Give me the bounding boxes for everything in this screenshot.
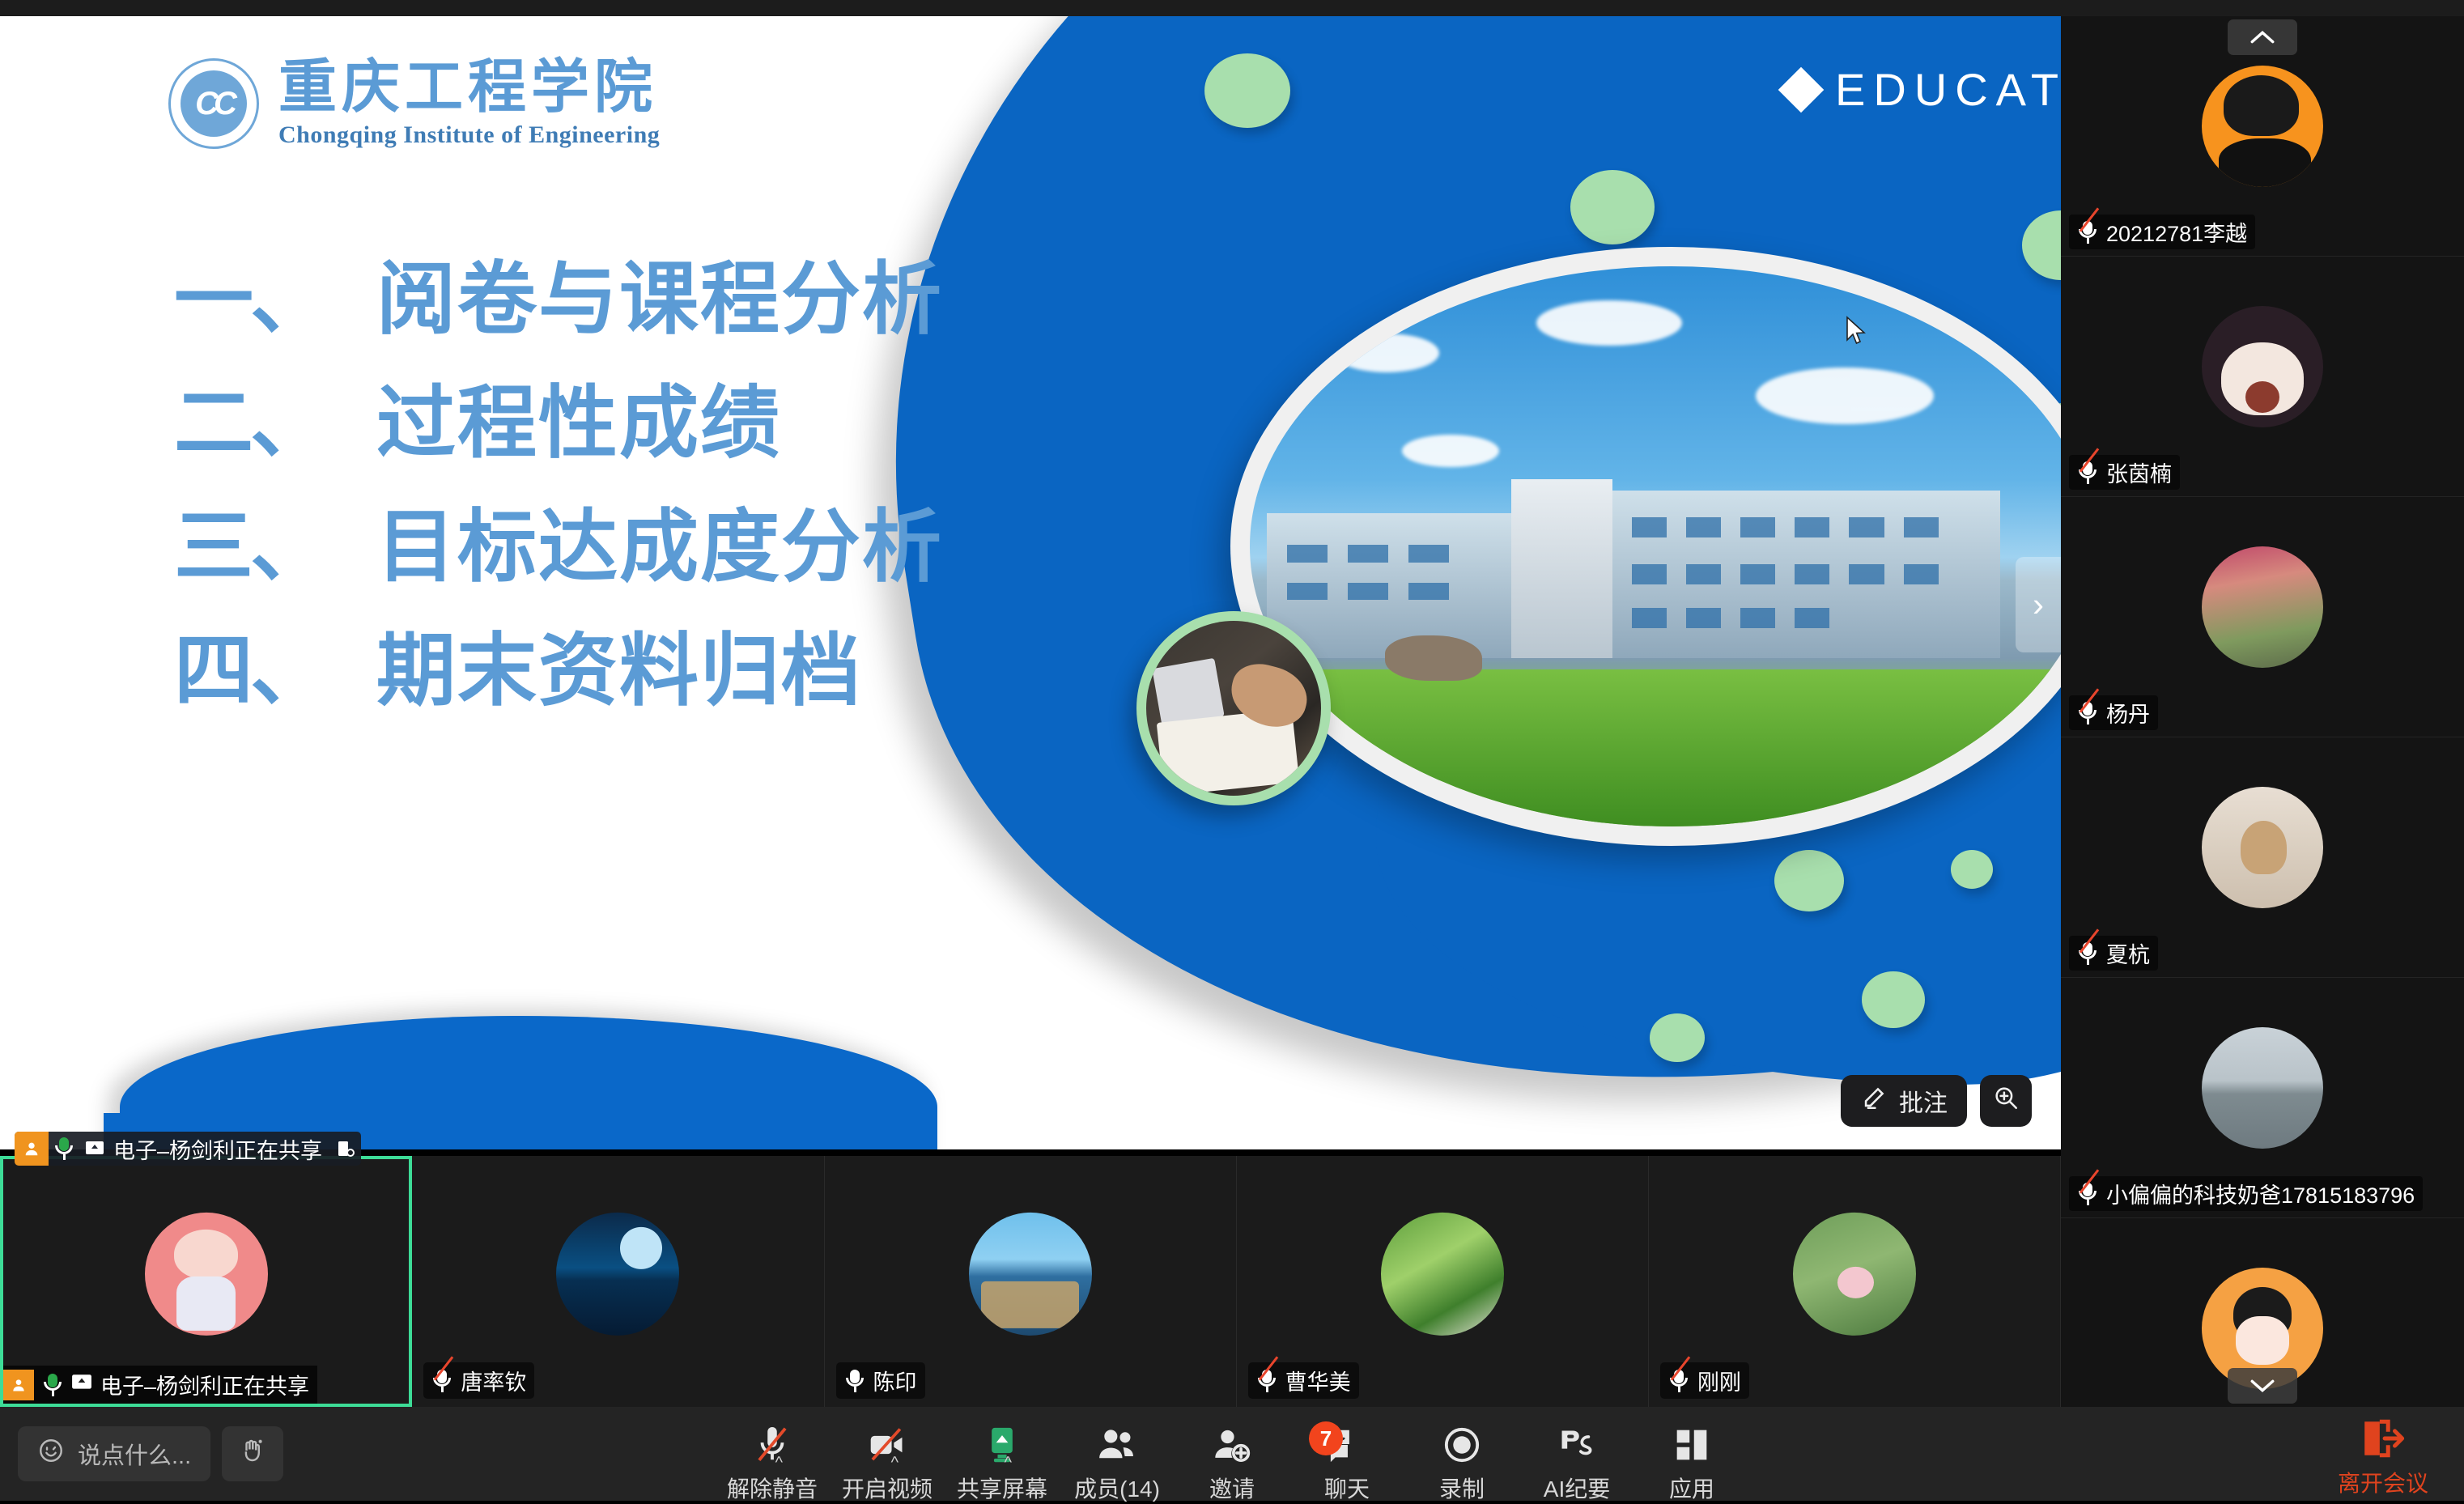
toolbar-record-button[interactable]: 录制 — [1404, 1415, 1519, 1504]
mic-muted-icon — [431, 1369, 452, 1393]
mic-on-icon — [49, 1136, 79, 1161]
sharing-status-chip[interactable]: 电子–杨剑利正在共享 — [15, 1132, 361, 1166]
tile-label: 陈印 — [836, 1362, 925, 1399]
zoom-in-button[interactable] — [1980, 1075, 2032, 1127]
presentation-slide: CC 重庆工程学院 Chongqing Institute of Enginee… — [0, 16, 2061, 1149]
avatar — [2202, 66, 2323, 187]
school-logo: CC 重庆工程学院 Chongqing Institute of Enginee… — [168, 58, 660, 149]
toolbar-label: 应用 — [1669, 1472, 1714, 1504]
mic-muted-icon — [2077, 1182, 2098, 1206]
tile-label: 曹华美 — [1248, 1362, 1359, 1399]
pencil-icon — [1860, 1084, 1888, 1118]
decorative-green-pill — [1951, 850, 1993, 889]
apps-icon — [1674, 1423, 1710, 1467]
seal-mark: CC — [171, 61, 257, 147]
toolbar-unmute-button[interactable]: ^ 解除静音 — [715, 1415, 830, 1504]
chat-icon: 7 — [1328, 1423, 1366, 1467]
rail-name: 夏杭 — [2106, 937, 2150, 969]
rail-label: 张茵楠 — [2069, 455, 2180, 490]
filmstrip-tile[interactable]: 陈印 — [825, 1156, 1237, 1407]
avatar — [2202, 787, 2323, 908]
sharing-status-name: 电子–杨剑利正在共享 — [110, 1133, 330, 1165]
avatar — [1381, 1213, 1504, 1336]
toolbar-label: 成员(14) — [1074, 1472, 1160, 1504]
agenda-item: 一、 阅卷与课程分析 — [174, 259, 1162, 338]
chevron-up-icon[interactable]: ^ — [775, 1454, 783, 1472]
agenda-number: 三、 — [174, 507, 376, 586]
annotate-label: 批注 — [1899, 1083, 1948, 1119]
filmstrip-tile[interactable]: 唐率钦 — [412, 1156, 824, 1407]
tile-label: 电子–杨剑利正在共享 — [3, 1366, 317, 1404]
decorative-green-pill — [1862, 971, 1925, 1028]
leave-meeting-button[interactable]: 离开会议 — [2326, 1418, 2440, 1498]
mic-muted-icon: ^ — [754, 1423, 791, 1467]
tile-name: 唐率钦 — [461, 1365, 526, 1396]
toolbar-invite-button[interactable]: 邀请 — [1175, 1415, 1289, 1504]
rail-participant-tile[interactable]: 夏杭 — [2061, 737, 2464, 978]
diamond-icon — [1778, 66, 1825, 113]
decorative-green-pill — [1204, 53, 1290, 128]
tile-label: 刚刚 — [1660, 1362, 1749, 1399]
filmstrip-tile[interactable]: 电子–杨剑利正在共享 — [0, 1156, 412, 1407]
rail-scroll-down-button[interactable] — [2228, 1368, 2297, 1404]
agenda-list: 一、 阅卷与课程分析 二、 过程性成绩 三、 目标达成度分析 四、 期末资料归档 — [174, 259, 1162, 754]
campus-photo — [1230, 247, 2061, 846]
toolbar-main-actions: ^ 解除静音 ^ 开启视频 — [715, 1415, 1749, 1504]
raise-hand-button[interactable] — [222, 1426, 283, 1481]
school-name-cn: 重庆工程学院 — [278, 58, 660, 117]
tile-name: 电子–杨剑利正在共享 — [100, 1369, 309, 1400]
toolbar-chat-button[interactable]: 7 聊天 — [1289, 1415, 1404, 1504]
agenda-number: 四、 — [174, 631, 376, 710]
toolbar-apps-button[interactable]: 应用 — [1634, 1415, 1749, 1504]
filmstrip-tile[interactable]: 刚刚 — [1649, 1156, 2061, 1407]
classroom-photo — [1136, 611, 1331, 805]
toolbar-share-screen-button[interactable]: ^ 共享屏幕 — [945, 1415, 1060, 1504]
rail-name: 小偏偏的科技奶爸17815183796 — [2106, 1178, 2415, 1209]
agenda-text: 过程性成绩 — [376, 383, 781, 462]
rail-participant-tile[interactable]: 张茵楠 — [2061, 257, 2464, 497]
rail-label: 杨丹 — [2069, 695, 2158, 730]
decorative-green-pill — [1650, 1013, 1705, 1062]
toolbar-start-video-button[interactable]: ^ 开启视频 — [830, 1415, 945, 1504]
ai-summary-icon — [1557, 1423, 1596, 1467]
toolbar-participants-button[interactable]: 成员(14) — [1060, 1415, 1175, 1504]
mic-muted-icon — [2077, 701, 2098, 725]
tile-name: 刚刚 — [1697, 1365, 1741, 1396]
leave-meeting-label: 离开会议 — [2338, 1466, 2428, 1498]
mic-on-icon — [42, 1373, 63, 1397]
share-doc-icon — [330, 1139, 361, 1158]
avatar — [2202, 1027, 2323, 1149]
agenda-text: 期末资料归档 — [376, 631, 862, 710]
education-wordmark: EDUCATI — [1785, 63, 2061, 116]
toolbar-label: 录制 — [1439, 1472, 1485, 1504]
slide-tools: 批注 — [1841, 1075, 2032, 1127]
agenda-item: 四、 期末资料归档 — [174, 631, 1162, 710]
toolbar-label: 邀请 — [1209, 1472, 1255, 1504]
school-name-en: Chongqing Institute of Engineering — [278, 121, 660, 149]
participants-icon — [1097, 1423, 1137, 1467]
rail-name: 杨丹 — [2106, 697, 2150, 729]
decorative-blue-wave — [120, 1016, 937, 1149]
avatar — [2202, 546, 2323, 668]
rail-label: 夏杭 — [2069, 936, 2158, 971]
toolbar-ai-summary-button[interactable]: AI纪要 — [1519, 1415, 1634, 1504]
share-screen-icon: ^ — [984, 1423, 1020, 1467]
agenda-item: 二、 过程性成绩 — [174, 383, 1162, 462]
avatar — [2202, 306, 2323, 427]
education-text: EDUCATI — [1835, 63, 2061, 116]
rail-name: 张茵楠 — [2106, 457, 2172, 488]
rail-scroll-up-button[interactable] — [2228, 19, 2297, 55]
avatar — [1793, 1213, 1916, 1336]
toolbar-label: 共享屏幕 — [957, 1472, 1047, 1504]
rail-participant-tile[interactable]: 杨丹 — [2061, 497, 2464, 737]
screen-share-icon — [71, 1372, 92, 1397]
mic-muted-icon — [2077, 941, 2098, 966]
agenda-text: 目标达成度分析 — [376, 507, 943, 586]
tile-label: 唐率钦 — [423, 1362, 534, 1399]
rail-label: 20212781李越 — [2069, 215, 2255, 249]
rail-label: 小偏偏的科技奶爸17815183796 — [2069, 1176, 2423, 1211]
screen-share-icon — [79, 1141, 110, 1157]
chevron-up-icon[interactable]: ^ — [891, 1454, 899, 1472]
tile-name: 曹华美 — [1285, 1365, 1351, 1396]
mic-muted-icon — [1256, 1369, 1277, 1393]
annotate-button[interactable]: 批注 — [1841, 1075, 1967, 1127]
agenda-number: 二、 — [174, 383, 376, 462]
chevron-up-icon[interactable]: ^ — [1005, 1454, 1012, 1472]
chevron-right-icon: › — [2033, 585, 2044, 624]
mic-on-icon — [844, 1369, 865, 1393]
smiley-icon — [37, 1437, 65, 1471]
decorative-green-pill — [1570, 170, 1655, 244]
filmstrip-tile[interactable]: 曹华美 — [1237, 1156, 1649, 1407]
decorative-green-pill — [1774, 850, 1844, 911]
magnifier-plus-icon — [1992, 1084, 2020, 1118]
leave-meeting-icon — [2360, 1418, 2407, 1463]
avatar — [145, 1213, 268, 1336]
agenda-number: 一、 — [174, 259, 376, 338]
participant-rail[interactable]: 20212781李越 张茵楠 杨丹 夏杭 小偏偏的科技奶爸17815183796 — [2061, 16, 2464, 1407]
camera-off-icon: ^ — [868, 1423, 907, 1467]
avatar — [556, 1213, 679, 1336]
toolbar-label: AI纪要 — [1544, 1472, 1610, 1504]
mic-muted-icon — [1668, 1369, 1689, 1393]
rail-participant-tile[interactable]: 小偏偏的科技奶爸17815183796 — [2061, 978, 2464, 1218]
invite-person-icon — [1213, 1423, 1251, 1467]
say-something-placeholder: 说点什么... — [78, 1437, 191, 1471]
next-slide-arrow-button[interactable]: › — [2016, 557, 2061, 652]
toolbar-left-group: 说点什么... — [18, 1426, 283, 1481]
rail-name: 20212781李越 — [2106, 216, 2247, 248]
raise-hand-icon — [238, 1436, 267, 1472]
toolbar-label: 解除静音 — [727, 1472, 818, 1504]
meeting-toolbar: 说点什么... ^ 解除静音 — [0, 1407, 2464, 1501]
agenda-item: 三、 目标达成度分析 — [174, 507, 1162, 586]
shared-screen-stage[interactable]: CC 重庆工程学院 Chongqing Institute of Enginee… — [0, 16, 2061, 1149]
participant-filmstrip[interactable]: 电子–杨剑利正在共享 唐率钦 陈印 曹华美 刚刚 — [0, 1156, 2061, 1407]
host-person-icon — [15, 1132, 49, 1166]
school-seal-icon: CC — [168, 58, 259, 149]
toolbar-label: 聊天 — [1324, 1472, 1370, 1504]
mic-muted-icon — [2077, 461, 2098, 485]
host-person-icon — [3, 1370, 34, 1400]
avatar — [969, 1213, 1092, 1336]
toolbar-label: 开启视频 — [842, 1472, 932, 1504]
mic-muted-icon — [2077, 220, 2098, 244]
record-icon — [1443, 1423, 1481, 1467]
window-titlebar — [0, 0, 2464, 16]
chat-unread-badge: 7 — [1309, 1421, 1343, 1455]
agenda-text: 阅卷与课程分析 — [376, 259, 943, 338]
tile-name: 陈印 — [873, 1365, 917, 1396]
say-something-input[interactable]: 说点什么... — [18, 1426, 210, 1481]
